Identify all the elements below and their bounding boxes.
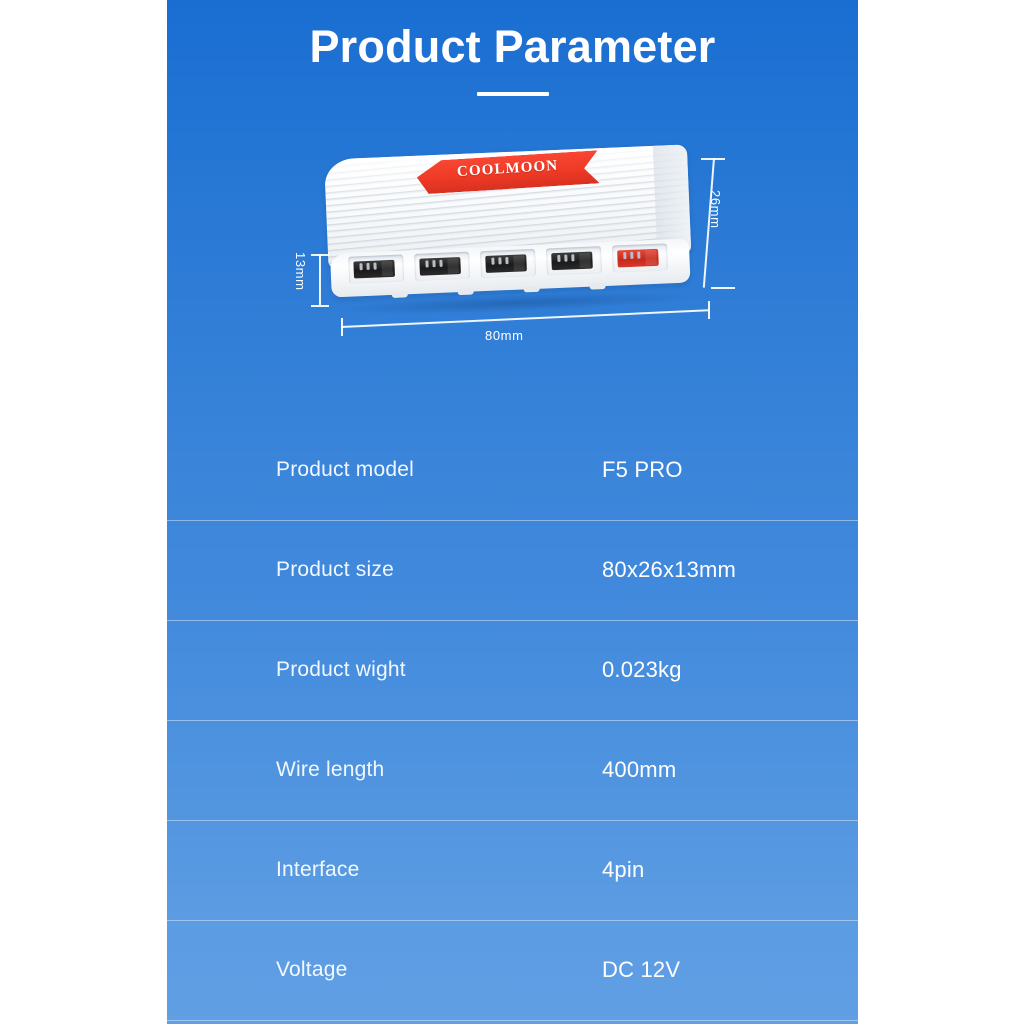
dimension-cap-bottom — [311, 305, 329, 307]
connector-port-4 — [546, 246, 602, 275]
device-foot — [524, 286, 540, 293]
dimension-label-height: 26mm — [708, 190, 723, 229]
dimension-cap-top — [311, 254, 329, 256]
connector-housing-black — [353, 260, 395, 279]
dimension-cap-bottom — [711, 287, 735, 289]
connector-port-1 — [348, 254, 404, 283]
title-underline-rule — [477, 92, 549, 96]
spec-value: 400mm — [602, 757, 676, 783]
dimension-label-width: 80mm — [485, 328, 524, 343]
connector-port-5 — [612, 243, 668, 272]
product-illustration: COOLMOON — [167, 130, 858, 420]
page-header: Product Parameter — [167, 0, 858, 130]
coolmoon-fan-hub-device: COOLMOON — [324, 144, 693, 307]
dimension-cap-left — [341, 318, 343, 336]
dimension-label-depth: 13mm — [293, 252, 308, 291]
device-foot — [392, 291, 408, 298]
spec-row-interface: Interface 4pin — [167, 820, 858, 920]
spec-label: Interface — [276, 858, 360, 882]
spec-label: Product size — [276, 558, 394, 582]
spec-row-product-weight: Product wight 0.023kg — [167, 620, 858, 720]
connector-housing-black — [551, 252, 593, 271]
spec-label: Product wight — [276, 658, 406, 682]
spec-row-voltage: Voltage DC 12V — [167, 920, 858, 1020]
dimension-cap-top — [701, 158, 725, 160]
spec-value: F5 PRO — [602, 457, 683, 483]
dimension-line-depth — [319, 254, 321, 306]
spec-row-clipped — [167, 1020, 858, 1024]
connector-housing-black — [419, 257, 461, 276]
device-right-end-cap — [653, 144, 691, 253]
product-parameter-page: Product Parameter COOLMOON — [0, 0, 1024, 1024]
page-title: Product Parameter — [167, 19, 858, 75]
connector-port-3 — [480, 249, 536, 278]
spec-row-product-model: Product model F5 PRO — [167, 420, 858, 520]
spec-label: Wire length — [276, 758, 384, 782]
spec-row-product-size: Product size 80x26x13mm — [167, 520, 858, 620]
dimension-cap-right — [708, 301, 710, 319]
connector-port-2 — [414, 252, 470, 281]
spec-label: Voltage — [276, 958, 347, 982]
spec-value: 0.023kg — [602, 657, 682, 683]
spec-value: DC 12V — [602, 957, 680, 983]
device-foot — [458, 289, 474, 296]
connector-housing-black — [485, 254, 527, 273]
spec-value: 80x26x13mm — [602, 557, 736, 583]
spec-label: Product model — [276, 458, 414, 482]
spec-value: 4pin — [602, 857, 644, 883]
device-foot — [589, 283, 605, 290]
specification-table: Product model F5 PRO Product size 80x26x… — [167, 420, 858, 1024]
spec-row-wire-length: Wire length 400mm — [167, 720, 858, 820]
blue-content-panel: Product Parameter COOLMOON — [167, 0, 858, 1024]
connector-housing-red — [617, 249, 659, 268]
